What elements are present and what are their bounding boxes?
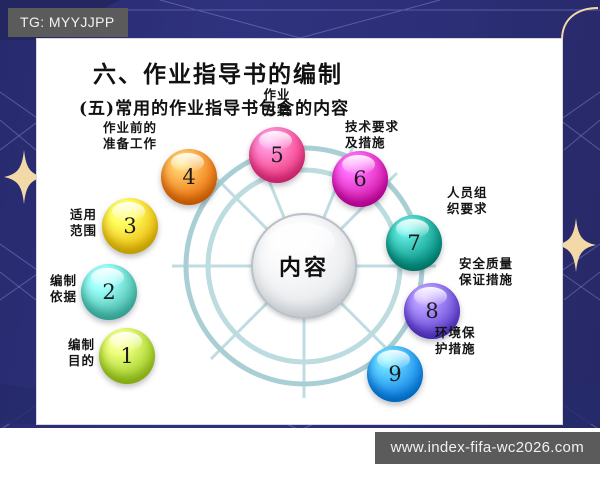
bubble-3-label-line2: 范围 (27, 223, 97, 239)
bubble-5[interactable]: 5 (249, 127, 305, 183)
radial-diagram: 内容 1 2 3 4 5 6 7 (37, 117, 564, 426)
bubble-4[interactable]: 4 (161, 149, 217, 205)
bubble-number: 1 (120, 344, 133, 368)
bubble-8-label-line2: 保证措施 (459, 272, 559, 288)
site-watermark-badge: www.index-fifa-wc2026.com (375, 432, 600, 464)
bubble-7-label-line2: 织要求 (447, 201, 537, 217)
bubble-1-label: 编制 目的 (25, 337, 95, 369)
bubble-9-label-line2: 护措施 (435, 341, 525, 357)
bubble-7[interactable]: 7 (386, 215, 442, 271)
bubble-number: 4 (182, 165, 195, 189)
bubble-3-label: 适用 范围 (27, 207, 97, 239)
slide-screenshot: 六、作业指导书的编制 (五)常用的作业指导书包含的内容 (0, 0, 600, 480)
bubble-3-label-line1: 适用 (27, 207, 97, 223)
bubble-2[interactable]: 2 (81, 264, 137, 320)
bubble-1-label-line1: 编制 (25, 337, 95, 353)
bubble-number: 3 (123, 214, 136, 238)
bubble-7-label-line1: 人员组 (447, 185, 537, 201)
bubble-number: 5 (270, 143, 283, 167)
bubble-6-label: 技术要求 及措施 (345, 119, 455, 151)
bubble-6-label-line1: 技术要求 (345, 119, 455, 135)
bubble-9-label: 环境保 护措施 (435, 325, 525, 357)
bubble-5-label-line2: 方案 (237, 103, 317, 119)
sparkle-arc-icon (560, 6, 600, 46)
diagram-center-hub[interactable]: 内容 (251, 213, 357, 319)
bubble-1-label-line2: 目的 (25, 353, 95, 369)
bubble-1[interactable]: 1 (99, 328, 155, 384)
bubble-4-label: 作业前的 准备工作 (52, 120, 157, 152)
bubble-8-label: 安全质量 保证措施 (459, 256, 559, 288)
slide-title: 六、作业指导书的编制 (93, 55, 343, 89)
bubble-number: 2 (102, 280, 115, 304)
bubble-6-label-line2: 及措施 (345, 135, 455, 151)
hub-label: 内容 (279, 250, 329, 282)
bubble-number: 7 (407, 231, 420, 255)
bubble-8-label-line1: 安全质量 (459, 256, 559, 272)
bubble-number: 9 (388, 362, 401, 386)
bubble-3[interactable]: 3 (102, 198, 158, 254)
bubble-4-label-line1: 作业前的 (52, 120, 157, 136)
bubble-2-label: 编制 依据 (7, 273, 77, 305)
bubble-9-label-line1: 环境保 (435, 325, 525, 341)
slide-content-card: 六、作业指导书的编制 (五)常用的作业指导书包含的内容 (36, 38, 563, 425)
bubble-number: 8 (425, 299, 438, 323)
bubble-5-label-line1: 作业 (237, 87, 317, 103)
bubble-7-label: 人员组 织要求 (447, 185, 537, 217)
bubble-number: 6 (353, 167, 366, 191)
bubble-2-label-line1: 编制 (7, 273, 77, 289)
bubble-5-label: 作业 方案 (237, 87, 317, 119)
tag-watermark-badge: TG: MYYJJPP (8, 8, 128, 37)
bottom-white-strip (0, 464, 600, 480)
bubble-9[interactable]: 9 (367, 346, 423, 402)
bubble-4-label-line2: 准备工作 (52, 136, 157, 152)
bubble-6[interactable]: 6 (332, 151, 388, 207)
bubble-2-label-line2: 依据 (7, 289, 77, 305)
